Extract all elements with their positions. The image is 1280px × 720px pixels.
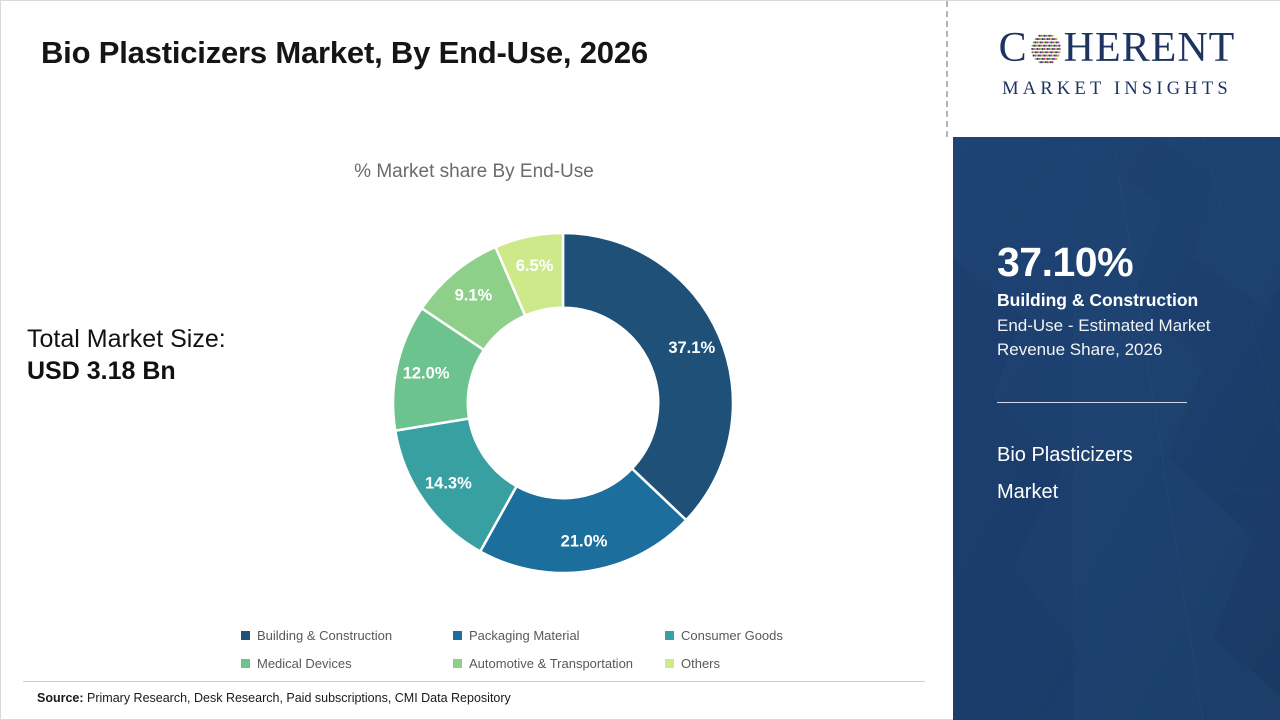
report-name-line2: Market bbox=[997, 474, 1247, 511]
report-name-line1: Bio Plasticizers bbox=[997, 437, 1247, 474]
logo-letters-herent: HERENT bbox=[1064, 27, 1236, 69]
donut-chart-svg: 37.1%21.0%14.3%12.0%9.1%6.5% bbox=[389, 229, 737, 577]
chart-subtitle: % Market share By End-Use bbox=[1, 161, 947, 183]
legend-item-consumer-goods[interactable]: Consumer Goods bbox=[665, 628, 815, 643]
legend-item-medical-devices[interactable]: Medical Devices bbox=[241, 656, 453, 671]
donut-slice-label: 9.1% bbox=[455, 286, 493, 304]
report-name: Bio Plasticizers Market bbox=[997, 437, 1247, 511]
donut-slice-label: 12.0% bbox=[403, 364, 450, 382]
legend-swatch-icon bbox=[665, 631, 674, 640]
logo-letter-c: C bbox=[999, 27, 1028, 69]
globe-icon bbox=[1029, 32, 1063, 66]
legend-swatch-icon bbox=[241, 631, 250, 640]
stat-description: End-Use - Estimated Market Revenue Share… bbox=[997, 314, 1247, 362]
total-market-size-label: Total Market Size: bbox=[27, 323, 226, 355]
logo-tagline: MARKET INSIGHTS bbox=[967, 79, 1267, 100]
legend-label: Medical Devices bbox=[257, 656, 352, 671]
legend-item-packaging-material[interactable]: Packaging Material bbox=[453, 628, 665, 643]
legend-swatch-icon bbox=[453, 659, 462, 668]
legend-row-2: Medical Devices Automotive & Transportat… bbox=[241, 649, 821, 677]
donut-slice[interactable] bbox=[563, 233, 733, 520]
total-market-size-value: USD 3.18 Bn bbox=[27, 355, 226, 387]
page-title: Bio Plasticizers Market, By End-Use, 202… bbox=[41, 35, 648, 71]
panel-divider bbox=[997, 402, 1187, 403]
logo-area: C HERENT MARKET INSIGHTS bbox=[953, 1, 1280, 137]
legend-label: Building & Construction bbox=[257, 628, 392, 643]
sidebar-stat-panel: 37.10% Building & Construction End-Use -… bbox=[953, 137, 1280, 720]
stat-value: 37.10% bbox=[997, 241, 1247, 284]
logo-wordmark: C HERENT bbox=[967, 25, 1267, 71]
donut-slice-label: 6.5% bbox=[516, 257, 554, 275]
source-text: Primary Research, Desk Research, Paid su… bbox=[84, 691, 511, 705]
legend-item-building-construction[interactable]: Building & Construction bbox=[241, 628, 453, 643]
legend-swatch-icon bbox=[665, 659, 674, 668]
source-line: Source: Primary Research, Desk Research,… bbox=[37, 691, 511, 705]
legend-label: Automotive & Transportation bbox=[469, 656, 633, 671]
stat-segment-name: Building & Construction bbox=[997, 290, 1247, 312]
sidebar: C HERENT MARKET INSIGHTS bbox=[953, 1, 1280, 720]
donut-slice-label: 37.1% bbox=[668, 339, 715, 357]
donut-slice-label: 21.0% bbox=[561, 532, 608, 550]
legend-label: Packaging Material bbox=[469, 628, 580, 643]
donut-slice-label: 14.3% bbox=[425, 475, 472, 493]
legend-label: Others bbox=[681, 656, 720, 671]
total-market-size-block: Total Market Size: USD 3.18 Bn bbox=[27, 323, 226, 387]
main-chart-area: Bio Plasticizers Market, By End-Use, 202… bbox=[1, 1, 947, 720]
chart-legend: Building & Construction Packaging Materi… bbox=[241, 621, 821, 677]
legend-swatch-icon bbox=[241, 659, 250, 668]
footer-divider bbox=[23, 681, 925, 682]
legend-row-1: Building & Construction Packaging Materi… bbox=[241, 621, 821, 649]
sidebar-panel-content: 37.10% Building & Construction End-Use -… bbox=[997, 241, 1247, 511]
company-logo: C HERENT MARKET INSIGHTS bbox=[967, 25, 1267, 100]
infographic-page: Bio Plasticizers Market, By End-Use, 202… bbox=[0, 0, 1280, 720]
legend-swatch-icon bbox=[453, 631, 462, 640]
legend-label: Consumer Goods bbox=[681, 628, 783, 643]
donut-chart: 37.1%21.0%14.3%12.0%9.1%6.5% bbox=[389, 229, 737, 577]
legend-item-others[interactable]: Others bbox=[665, 656, 815, 671]
source-label: Source: bbox=[37, 691, 84, 705]
vertical-dashed-divider bbox=[946, 1, 948, 137]
donut-slices bbox=[393, 233, 733, 573]
legend-item-automotive-transportation[interactable]: Automotive & Transportation bbox=[453, 656, 665, 671]
